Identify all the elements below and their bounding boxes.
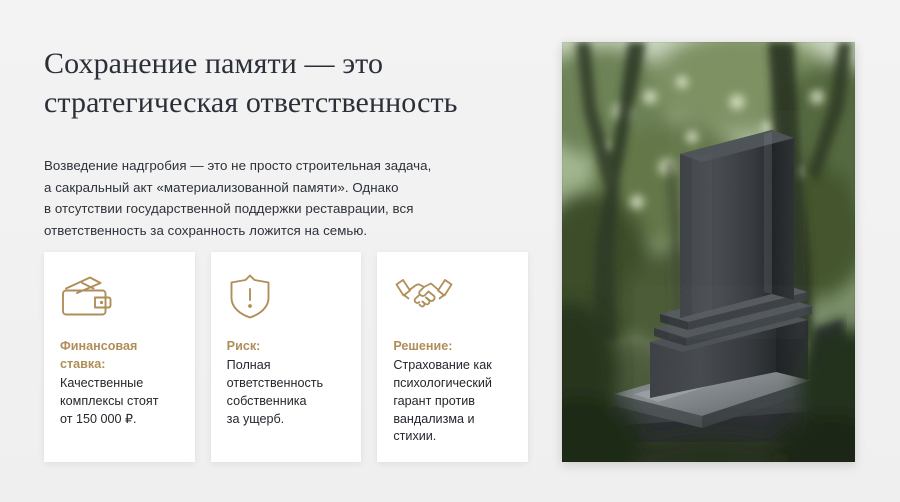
slide-root: Сохранение памяти — это стратегическая о… [0,0,900,502]
wallet-icon [60,272,179,324]
card-body: Страхование как психологический гарант п… [393,357,512,446]
shield-alert-icon [227,272,346,324]
gravestone-photo-illustration [562,42,855,462]
intro-paragraph: Возведение надгробия — это не просто стр… [44,155,528,242]
card-body: Полная ответственность собственника за у… [227,357,346,429]
left-content-column: Сохранение памяти — это стратегическая о… [44,44,528,242]
gravestone-photo [562,42,855,462]
card-body: Качественные комплексы стоят от 150 000 … [60,375,179,429]
feature-card-list: Финансовая ставка: Качественные комплекс… [44,252,528,462]
card-title: Финансовая ставка: [60,338,179,374]
page-title: Сохранение памяти — это стратегическая о… [44,44,528,122]
card-financial-stake[interactable]: Финансовая ставка: Качественные комплекс… [44,252,195,462]
card-title: Решение: [393,338,512,356]
card-risk[interactable]: Риск: Полная ответственность собственник… [211,252,362,462]
handshake-icon [393,272,512,324]
card-title: Риск: [227,338,346,356]
card-solution[interactable]: Решение: Страхование как психологический… [377,252,528,462]
